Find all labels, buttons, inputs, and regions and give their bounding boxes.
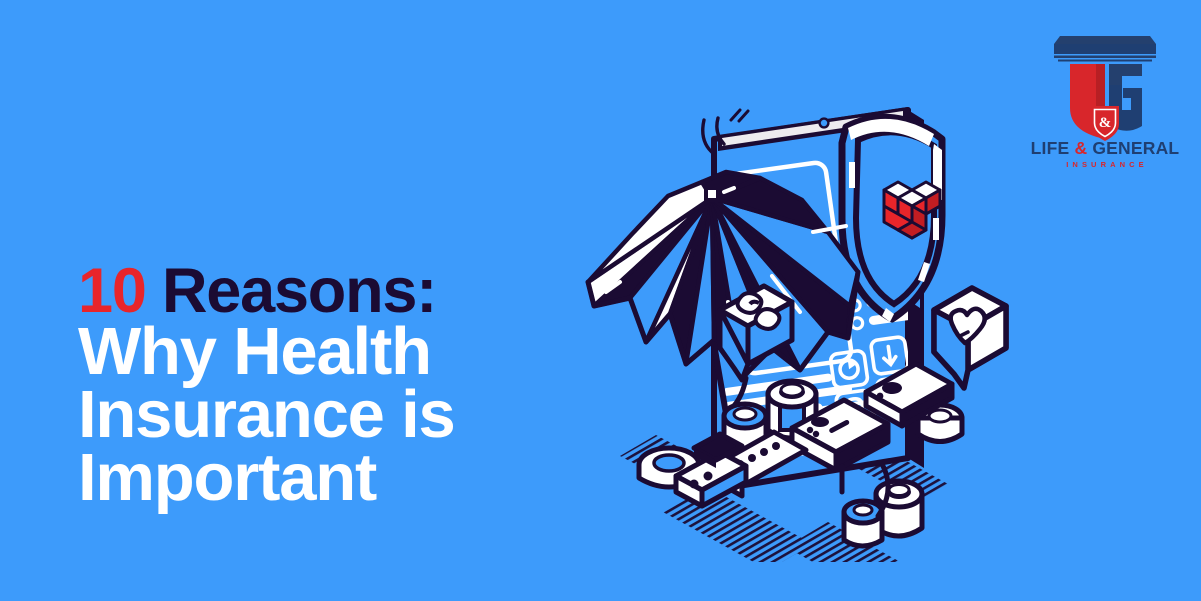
logo-mark-icon: & xyxy=(1026,22,1184,142)
logo-title-part1: LIFE xyxy=(1031,138,1075,158)
svg-text:&: & xyxy=(1099,115,1112,131)
headline-line-1: 10 Reasons: xyxy=(78,262,598,321)
coin-stack-right xyxy=(844,481,922,546)
health-insurance-illustration: sign_ xyxy=(528,92,1028,562)
logo-title-part2: GENERAL xyxy=(1087,138,1179,158)
logo-subtitle: INSURANCE xyxy=(1026,161,1184,169)
logo-wordmark: LIFE & GENERAL INSURANCE xyxy=(1026,140,1184,168)
headline-line-4: Important xyxy=(78,447,598,510)
headline-line-3: Insurance is xyxy=(78,384,598,447)
logo-title-ampersand: & xyxy=(1074,138,1087,158)
headline-block: 10 Reasons: Why Health Insurance is Impo… xyxy=(78,262,598,510)
logo-title: LIFE & GENERAL xyxy=(1026,140,1184,158)
headline-line-2: Why Health xyxy=(78,321,598,384)
brand-logo[interactable]: & LIFE & GENERAL INSURANCE xyxy=(1026,22,1184,182)
heart-chat-bubble-icon xyxy=(934,288,1006,388)
banner-root: 10 Reasons: Why Health Insurance is Impo… xyxy=(0,0,1201,601)
